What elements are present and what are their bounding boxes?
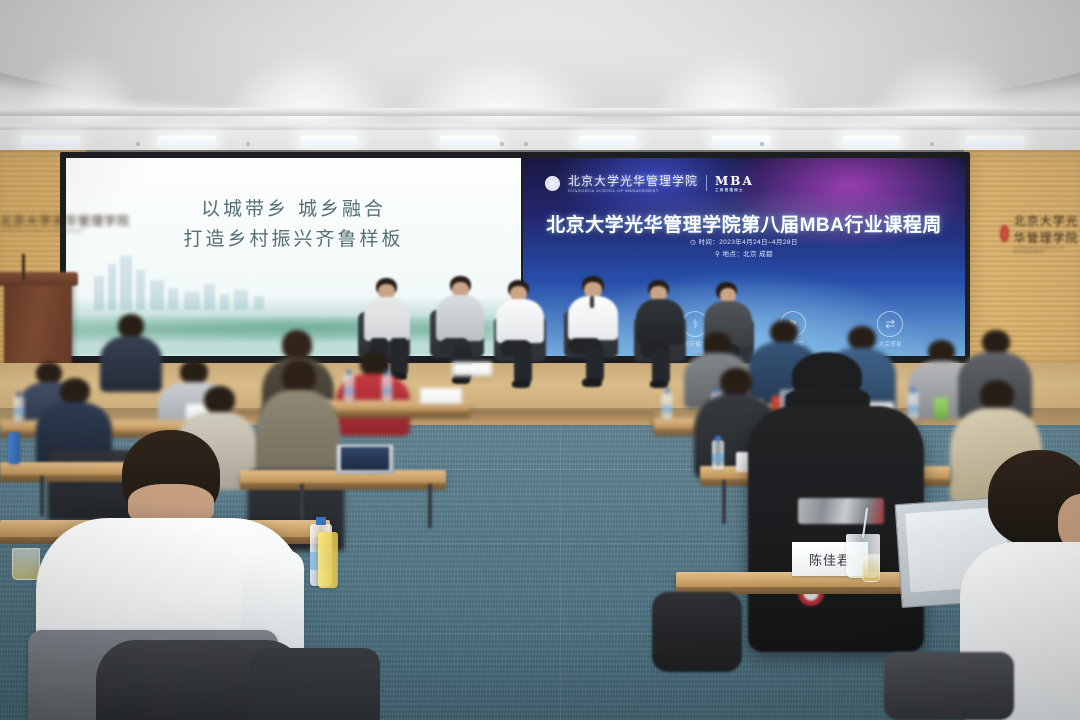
- left-screen-headline-1: 以城带乡 城乡融合: [66, 194, 521, 221]
- hoodie-graphic-print: [798, 498, 884, 524]
- handheld-microphone: [590, 296, 594, 308]
- wall-logo-calligraphy: 北京大学光华管理学院 GUANGHUA SCHOOL OF MANAGEMENT: [1014, 212, 1080, 254]
- brand-divider: [706, 175, 707, 191]
- brand-mba-sub: 工商管理硕士: [715, 188, 754, 193]
- sports-bottle: [8, 432, 20, 464]
- drinking-glass: [862, 554, 880, 582]
- ceiling-sensor-dot: [500, 142, 504, 146]
- ceiling-led-panel: [158, 136, 216, 147]
- lectern-top: [0, 272, 78, 286]
- ceiling-sensor-dot: [136, 142, 140, 146]
- ceiling-soffit: [0, 0, 1080, 116]
- water-bottle: [344, 374, 354, 402]
- ceiling-sensor-dot: [760, 142, 764, 146]
- brand-calligraphy: 北京大学光华管理学院 GUANGHUA SCHOOL OF MANAGEMENT: [568, 172, 698, 194]
- wall-logo-subtitle: GUANGHUA SCHOOL OF MANAGEMENT: [1014, 246, 1080, 254]
- ceiling: [0, 0, 1080, 146]
- ceiling-led-panel: [300, 136, 358, 147]
- seal-icon: [1000, 225, 1009, 242]
- wall-logo-subtitle: GUANGHUA SCHOOL OF MANAGEMENT: [0, 229, 130, 233]
- university-seal-icon: [545, 176, 560, 191]
- ceiling-led-panel: [842, 136, 900, 147]
- ceiling-sensor-dot: [524, 142, 528, 146]
- panelist-3: [494, 280, 556, 392]
- guanghua-wall-logo-right: 北京大学光华管理学院 GUANGHUA SCHOOL OF MANAGEMENT: [1000, 212, 1080, 254]
- laptop[interactable]: [336, 444, 394, 474]
- guanghua-wall-logo-left: 北京大学光华管理学院 GUANGHUA SCHOOL OF MANAGEMENT: [0, 212, 130, 233]
- event-title: 北京大学光华管理学院第八届MBA行业课程周: [523, 210, 965, 237]
- ceiling-sensor-dot: [246, 142, 250, 146]
- location-icon: ⚲: [715, 251, 720, 258]
- water-bottle: [662, 392, 672, 420]
- left-screen-headline-2: 打造乡村振兴齐鲁样板: [66, 224, 521, 251]
- lectern-mic-stem: [22, 254, 25, 280]
- backpack: [652, 592, 742, 672]
- ceiling-sensor-dot: [930, 142, 934, 146]
- drink-cup: [934, 398, 948, 420]
- ceiling-led-panel: [22, 136, 80, 147]
- water-bottle: [382, 374, 392, 402]
- labeled-bottle: [318, 532, 338, 588]
- ceiling-led-panel: [578, 136, 636, 147]
- brand-mba: MBA 工商管理硕士: [715, 174, 754, 193]
- clock-icon: ◷: [690, 239, 696, 246]
- wall-logo-calligraphy: 北京大学光华管理学院 GUANGHUA SCHOOL OF MANAGEMENT: [0, 212, 130, 233]
- conference-room-photo: 以城带乡 城乡融合 打造乡村振兴齐鲁样板 北京大学光华管理学院 GUANGHUA…: [0, 0, 1080, 720]
- name-card: [420, 388, 462, 404]
- event-time: ◷ 时间：2023年4月24日–4月28日: [523, 236, 965, 246]
- ceiling-led-panel: [966, 136, 1024, 147]
- panelist-4-speaking: [564, 276, 628, 394]
- water-bottle: [712, 440, 724, 470]
- chair-base: [884, 652, 1014, 720]
- name-card: [452, 362, 492, 376]
- water-bottle: [14, 396, 24, 422]
- office-chair-bottom[interactable]: [250, 648, 380, 720]
- screen-brand-lockup: 北京大学光华管理学院 GUANGHUA SCHOOL OF MANAGEMENT…: [545, 172, 754, 194]
- event-place: ⚲ 地点：北京 成都: [523, 248, 965, 258]
- soffit-lip: [0, 108, 1080, 116]
- ceiling-led-panel: [440, 136, 498, 147]
- brand-calligraphy-sub: GUANGHUA SCHOOL OF MANAGEMENT: [568, 189, 698, 194]
